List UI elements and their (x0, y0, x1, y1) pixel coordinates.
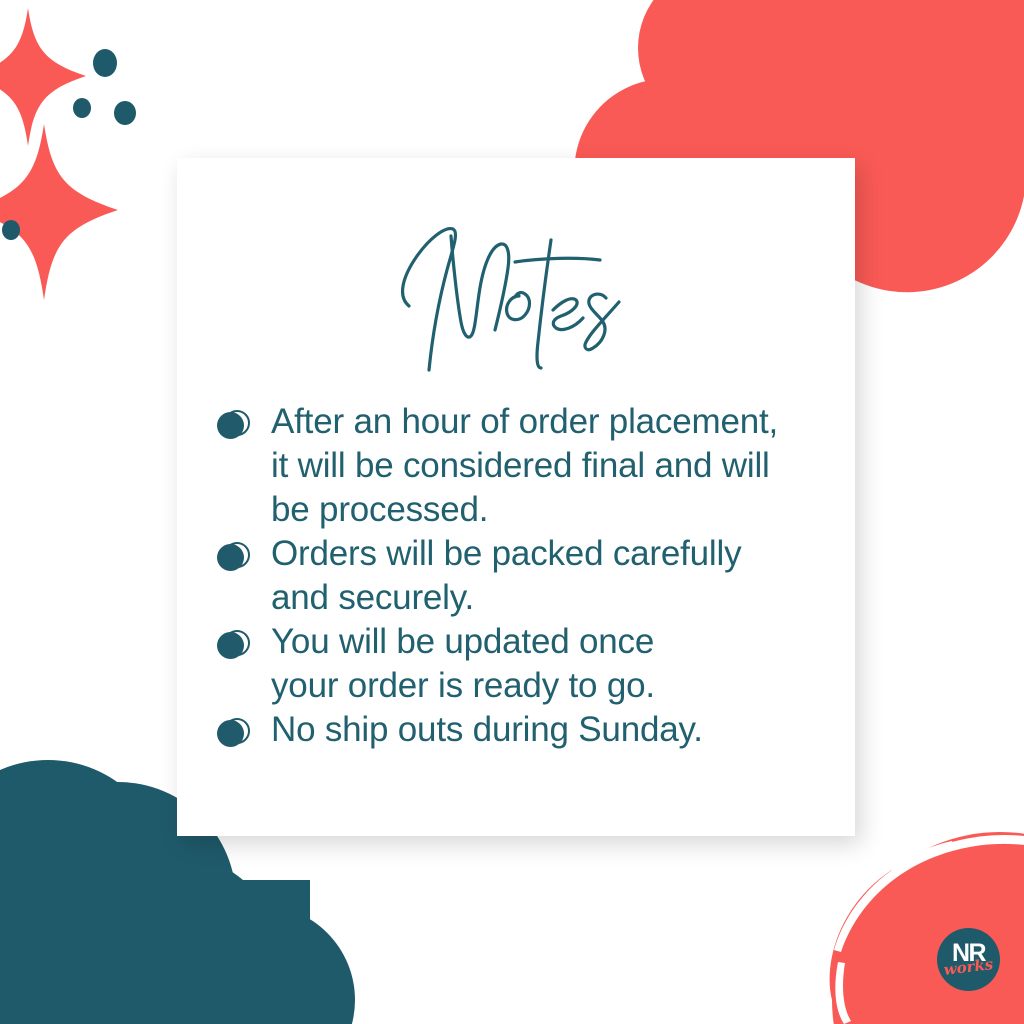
list-item: You will be updated once your order is r… (217, 620, 837, 708)
bullet-dot-icon (217, 410, 251, 444)
note-card: After an hour of order placement, it wil… (177, 158, 855, 836)
logo-script-text: works (937, 956, 1000, 979)
page-title (177, 218, 855, 378)
list-item: Orders will be packed carefully and secu… (217, 532, 837, 620)
bullet-dot-icon (217, 718, 251, 752)
note-text: No ship outs during Sunday. (271, 708, 703, 752)
bullet-dot-icon (217, 630, 251, 664)
poster-canvas: After an hour of order placement, it wil… (0, 0, 1024, 1024)
list-item: No ship outs during Sunday. (217, 708, 837, 752)
brand-logo[interactable]: NR works (937, 928, 1000, 991)
notes-list: After an hour of order placement, it wil… (217, 400, 837, 752)
sparkle-lower-left-icon (0, 124, 118, 300)
dot-3 (114, 101, 136, 125)
list-item: After an hour of order placement, it wil… (217, 400, 837, 532)
sparkle-top-left-icon (0, 8, 86, 146)
brush-circle-bottom-right-shape (830, 832, 1024, 1024)
note-text: You will be updated once your order is r… (271, 620, 655, 708)
notes-script-lettering (391, 218, 641, 378)
bullet-dot-icon (217, 542, 251, 576)
dot-4 (2, 220, 20, 240)
note-text: Orders will be packed carefully and secu… (271, 532, 741, 620)
note-text: After an hour of order placement, it wil… (271, 400, 778, 532)
dot-1 (93, 49, 117, 77)
dot-2 (73, 98, 91, 118)
